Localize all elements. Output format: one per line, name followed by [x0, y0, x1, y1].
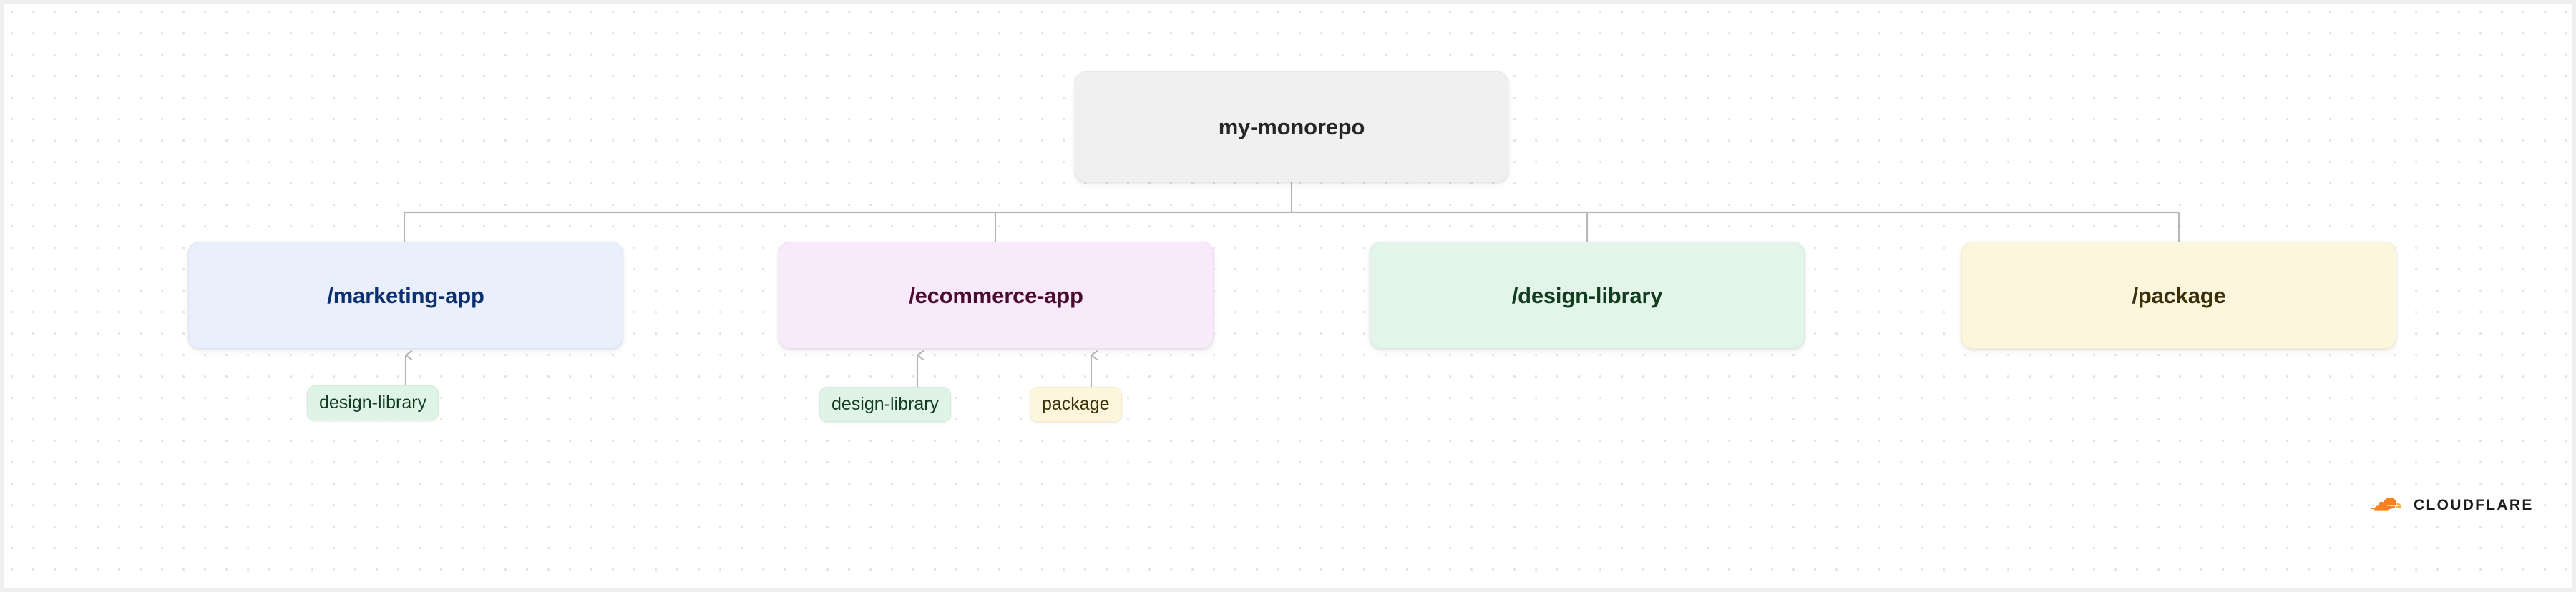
chip-marketing-dep-design-library[interactable]: design-library: [307, 385, 439, 420]
cloudflare-logo: CLOUDFLARE: [2361, 494, 2534, 516]
chip-ecommerce-dep-package[interactable]: package: [1030, 387, 1122, 422]
cloudflare-wordmark: CLOUDFLARE: [2414, 498, 2534, 513]
node-label: /design-library: [1512, 285, 1663, 307]
chip-ecommerce-dep-design-library[interactable]: design-library: [819, 387, 951, 422]
diagram-canvas: my-monorepo /marketing-app /ecommerce-ap…: [0, 0, 2576, 592]
root-to-bus-wires: [404, 182, 2179, 242]
node-label: my-monorepo: [1219, 116, 1365, 138]
node-marketing-app[interactable]: /marketing-app: [188, 242, 623, 349]
node-label: /marketing-app: [327, 285, 484, 307]
node-design-library[interactable]: /design-library: [1370, 242, 1805, 349]
dependency-wires: [406, 355, 1091, 403]
node-package[interactable]: /package: [1961, 242, 2396, 349]
cloudflare-cloud-icon: [2361, 494, 2406, 516]
chip-label: package: [1042, 395, 1110, 413]
node-label: /ecommerce-app: [909, 285, 1083, 307]
chip-label: design-library: [831, 395, 939, 413]
chip-label: design-library: [319, 394, 426, 412]
node-label: /package: [2132, 285, 2225, 307]
node-ecommerce-app[interactable]: /ecommerce-app: [779, 242, 1214, 349]
node-my-monorepo[interactable]: my-monorepo: [1075, 71, 1508, 182]
